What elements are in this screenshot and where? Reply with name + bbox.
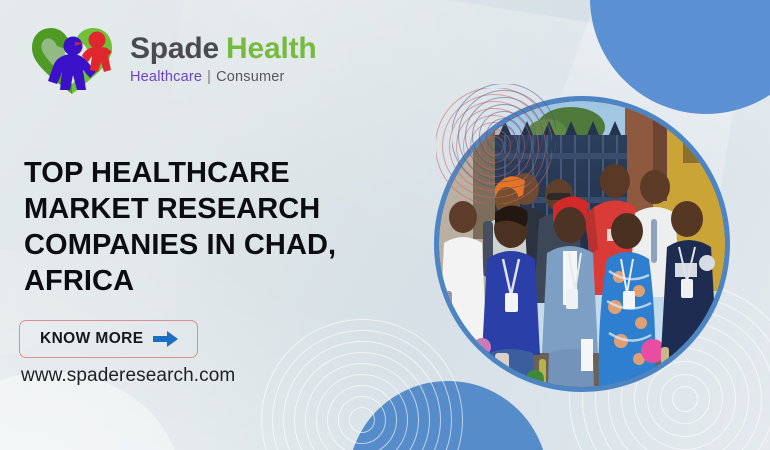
page-title: Top Healthcare Market Research Companies… bbox=[24, 156, 404, 300]
brand-tagline: Healthcare|Consumer bbox=[130, 69, 317, 85]
know-more-label: Know More bbox=[40, 330, 143, 348]
brand-word-secondary: Health bbox=[226, 32, 317, 65]
brand-wordmark: SpadeHealth bbox=[130, 34, 317, 64]
website-url[interactable]: www.spaderesearch.com bbox=[21, 365, 235, 387]
decorative-circle-top-right bbox=[590, 0, 770, 114]
brand-word-primary: Spade bbox=[130, 32, 219, 65]
group-photo-illustration bbox=[439, 101, 725, 387]
heart-people-logo-icon bbox=[26, 20, 118, 98]
decorative-circle-bottom-center bbox=[348, 381, 548, 450]
know-more-button[interactable]: Know More bbox=[19, 320, 198, 358]
arrow-right-icon bbox=[153, 330, 179, 348]
tagline-separator: | bbox=[207, 69, 211, 85]
hero-photo-clip bbox=[439, 101, 725, 387]
tagline-consumer: Consumer bbox=[216, 69, 285, 85]
brand-logo[interactable]: SpadeHealth Healthcare|Consumer bbox=[26, 20, 317, 98]
tagline-healthcare: Healthcare bbox=[130, 69, 202, 85]
promo-banner: SpadeHealth Healthcare|Consumer Top Heal… bbox=[0, 0, 770, 450]
hero-photo bbox=[434, 96, 730, 392]
brand-wordmark-block: SpadeHealth Healthcare|Consumer bbox=[130, 34, 317, 85]
